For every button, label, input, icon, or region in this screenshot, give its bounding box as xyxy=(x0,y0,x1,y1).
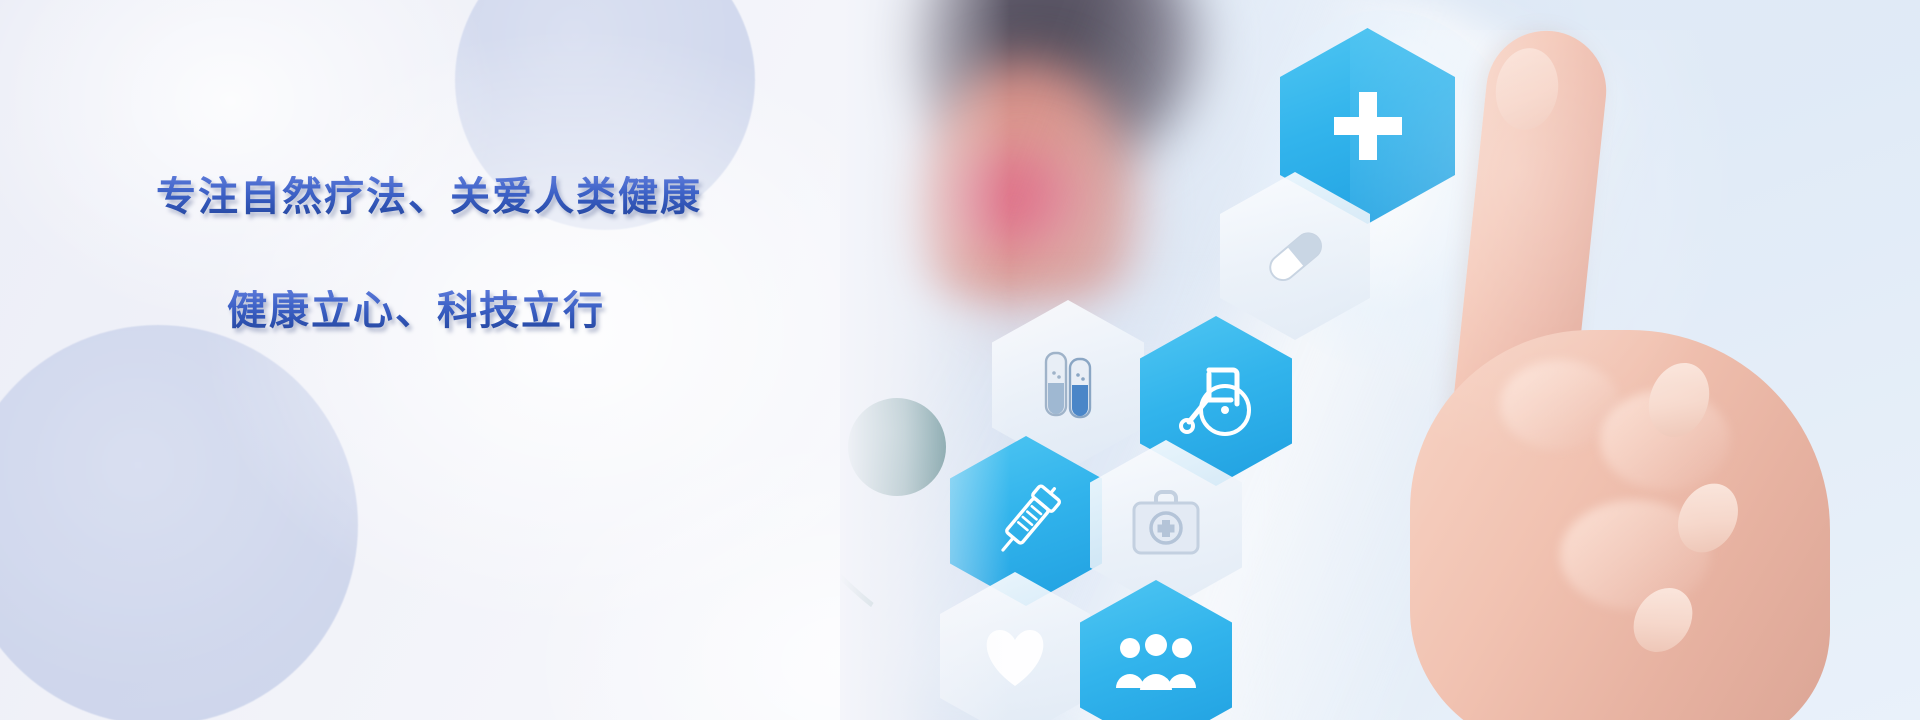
hero-banner: 专注自然疗法、关爱人类健康 健康立心、科技立行 xyxy=(0,0,1920,720)
capsule-icon xyxy=(1256,217,1334,295)
hero-photo xyxy=(840,0,1920,720)
test-tube-icon xyxy=(1032,345,1104,425)
wheelchair-icon xyxy=(1173,360,1259,442)
briefcase-icon xyxy=(1126,487,1206,563)
headline-line-2: 健康立心、科技立行 xyxy=(0,290,840,332)
heart-icon xyxy=(972,620,1058,692)
pointing-hand xyxy=(1350,30,1910,720)
syringe-icon xyxy=(984,478,1068,564)
teal-dot xyxy=(848,398,946,496)
headline-block: 专注自然疗法、关爱人类健康 健康立心、科技立行 xyxy=(0,176,840,332)
headline-line-1: 专注自然疗法、关爱人类健康 xyxy=(18,176,840,218)
people-icon xyxy=(1111,632,1201,698)
